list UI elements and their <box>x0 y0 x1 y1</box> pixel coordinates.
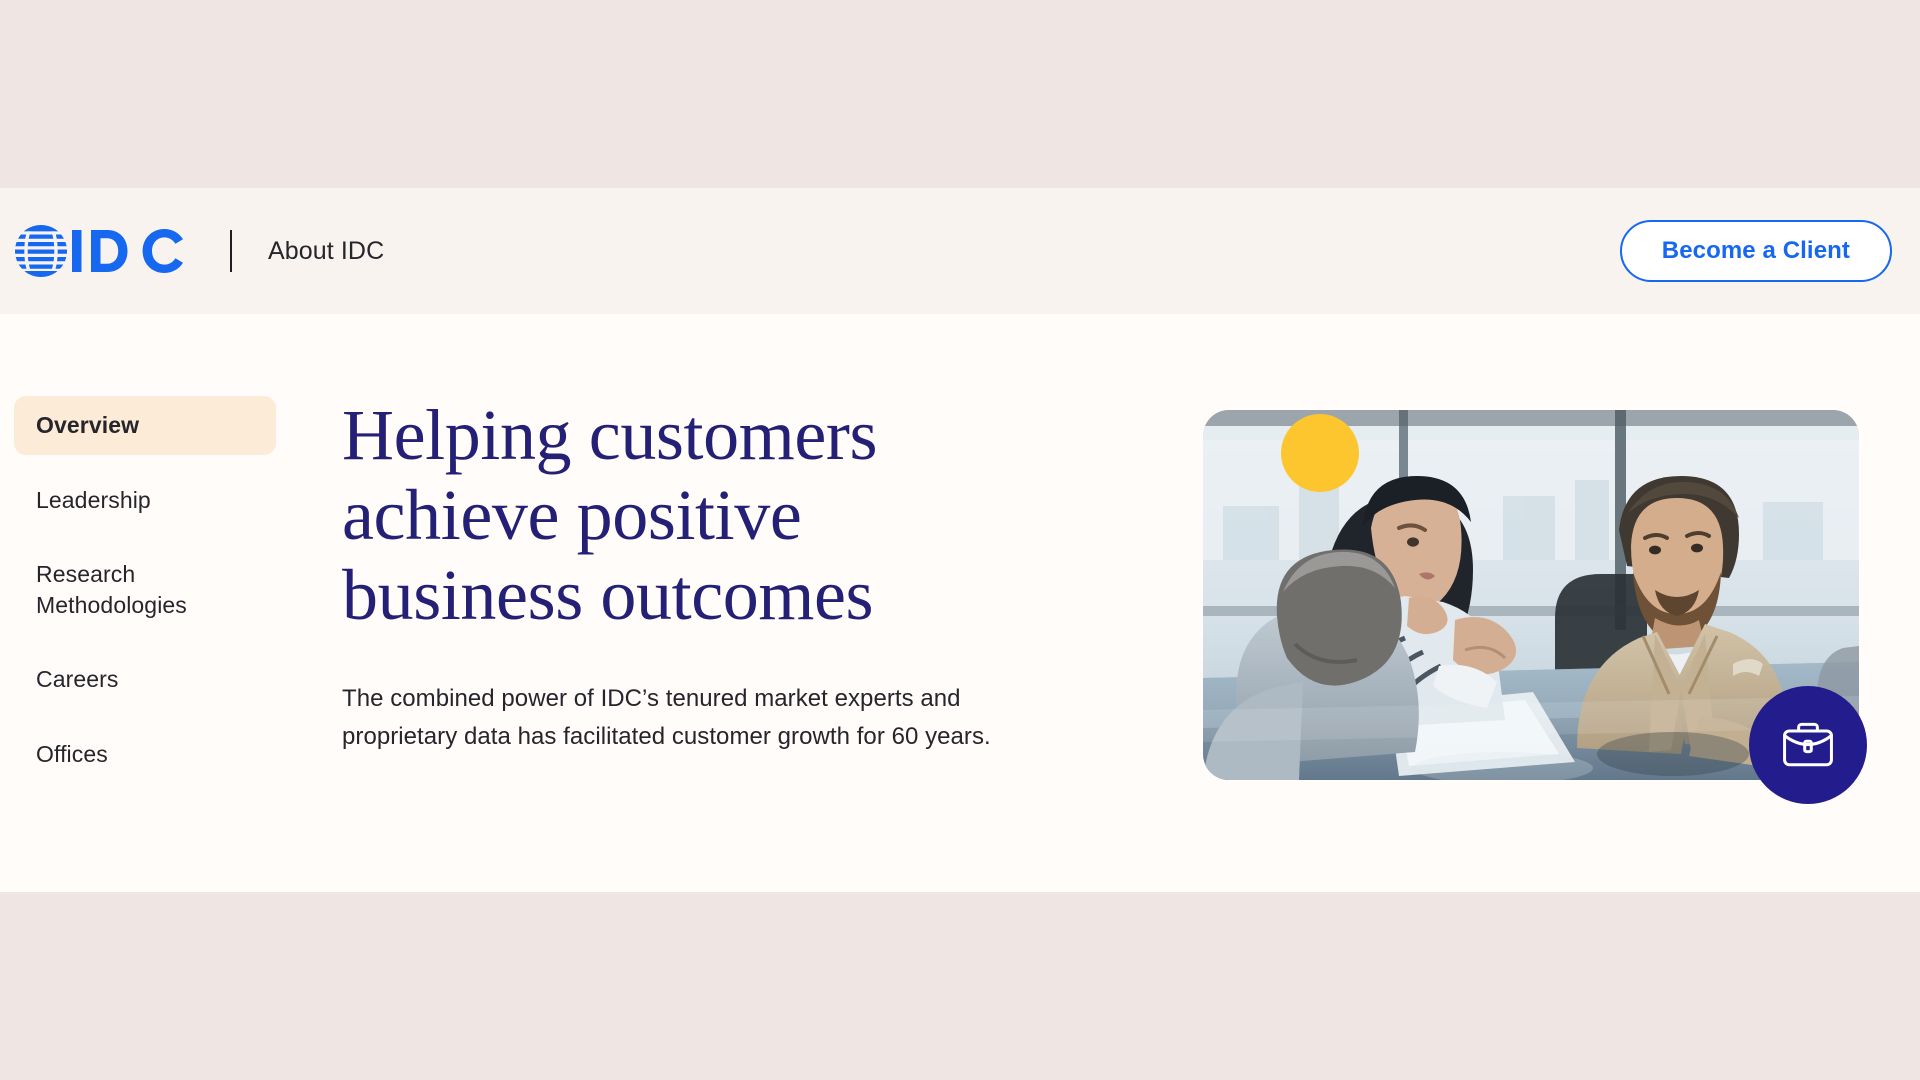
sidebar-item-careers[interactable]: Careers <box>14 650 276 709</box>
header-left-group: About IDC <box>0 224 384 278</box>
become-a-client-button[interactable]: Become a Client <box>1620 220 1892 282</box>
header-divider <box>230 230 232 272</box>
site-header: About IDC Become a Client <box>0 188 1920 314</box>
header-section-label[interactable]: About IDC <box>268 237 384 266</box>
idc-wordmark <box>70 225 188 277</box>
hero-text-block: Helping customers achieve positive busin… <box>276 396 1036 892</box>
sidebar-item-offices[interactable]: Offices <box>14 725 276 784</box>
yellow-circle-accent-icon <box>1281 414 1359 492</box>
sidebar-item-leadership[interactable]: Leadership <box>14 471 276 530</box>
page-root: About IDC Become a Client Overview Leade… <box>0 0 1920 1080</box>
sidebar-item-overview[interactable]: Overview <box>14 396 276 455</box>
briefcase-icon <box>1778 715 1838 775</box>
briefcase-badge[interactable] <box>1749 686 1867 804</box>
header-right-group: Become a Client <box>1620 220 1920 282</box>
page-title: Helping customers achieve positive busin… <box>342 396 1036 636</box>
idc-logo-link[interactable] <box>14 224 188 278</box>
idc-globe-icon <box>14 224 68 278</box>
hero-subtitle: The combined power of IDC’s tenured mark… <box>342 680 1036 756</box>
about-sidebar-nav: Overview Leadership Research Methodologi… <box>0 396 276 892</box>
sidebar-item-research-methodologies[interactable]: Research Methodologies <box>14 545 276 634</box>
hero-media-block <box>1203 410 1859 780</box>
